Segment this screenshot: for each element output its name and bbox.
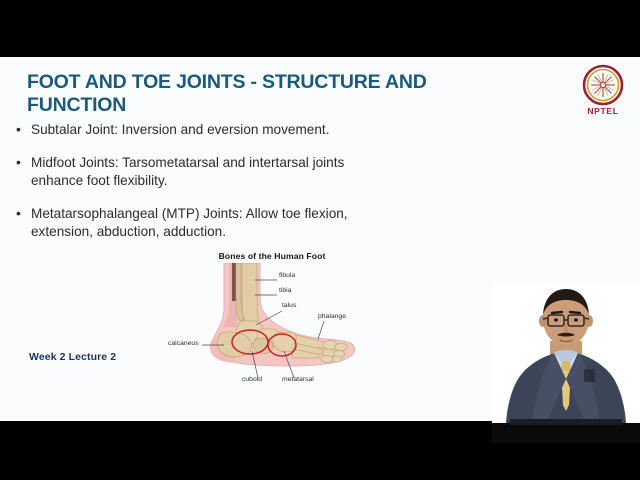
diagram-label-cuboid: cuboid xyxy=(242,376,262,383)
diagram-title: Bones of the Human Foot xyxy=(172,251,372,261)
diagram-label-metatarsal: metatarsal xyxy=(282,376,314,383)
bullet-2-line-2: enhance foot flexibility. xyxy=(31,172,422,190)
diagram-label-calcaneus: calcaneus xyxy=(168,340,199,347)
diagram-label-fibula: fibula xyxy=(279,272,295,279)
list-item: Midfoot Joints: Tarsometatarsal and inte… xyxy=(14,154,422,190)
presenter-video xyxy=(492,283,640,443)
nptel-logo: NPTEL xyxy=(577,64,629,120)
bullet-1-line-1: Subtalar Joint: Inversion and eversion m… xyxy=(31,121,422,139)
nptel-emblem-icon xyxy=(582,64,624,106)
bullet-3-line-1: Metatarsophalangeal (MTP) Joints: Allow … xyxy=(31,206,348,221)
bullet-3-line-2: extension, abduction, adduction. xyxy=(31,223,422,241)
nptel-wordmark: NPTEL xyxy=(577,106,629,116)
list-item: Metatarsophalangeal (MTP) Joints: Allow … xyxy=(14,205,422,241)
week-lecture-label: Week 2 Lecture 2 xyxy=(29,351,116,363)
page-title: FOOT AND TOE JOINTS - STRUCTURE AND FUNC… xyxy=(27,71,467,116)
foot-bones-diagram: Bones of the Human Foot xyxy=(172,251,372,391)
video-player-frame: FOOT AND TOE JOINTS - STRUCTURE AND FUNC… xyxy=(0,0,640,480)
list-item: Subtalar Joint: Inversion and eversion m… xyxy=(14,121,422,139)
diagram-label-phalange: phalange xyxy=(318,313,346,320)
letterbox-top xyxy=(0,0,640,57)
bullet-list: Subtalar Joint: Inversion and eversion m… xyxy=(14,121,422,256)
diagram-label-talus: talus xyxy=(282,302,296,309)
bullet-2-line-1: Midfoot Joints: Tarsometatarsal and inte… xyxy=(31,155,344,170)
diagram-illustration xyxy=(172,263,372,391)
diagram-label-tibia: tibia xyxy=(279,287,291,294)
